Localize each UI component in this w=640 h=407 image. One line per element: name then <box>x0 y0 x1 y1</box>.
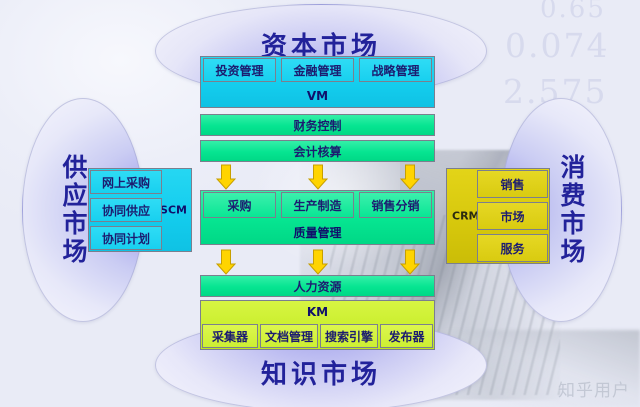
scm-item-online-procurement-label: 网上采购 <box>102 174 150 191</box>
km-label: KM <box>201 305 434 319</box>
crm-item-sales-label: 销售 <box>500 176 524 193</box>
erp-footer-quality-label: 质量管理 <box>293 224 341 241</box>
erp-item-sales-distribution-label: 销售分销 <box>371 197 419 214</box>
vm-item-strategy-label: 战略管理 <box>371 62 419 79</box>
erp-footer-quality[interactable]: 质量管理 <box>200 221 435 244</box>
scm-item-collaborative-planning-label: 协同计划 <box>102 230 150 247</box>
vm-item-investment[interactable]: 投资管理 <box>203 58 276 82</box>
knowledge-market-label: 知识市场 <box>261 354 381 391</box>
crm-label: CRM <box>452 210 480 223</box>
km-item-publisher-label: 发布器 <box>388 328 424 345</box>
crm-item-marketing[interactable]: 市场 <box>477 202 548 230</box>
km-item-document-management-label: 文档管理 <box>265 328 313 345</box>
km-item-publisher[interactable]: 发布器 <box>380 324 433 348</box>
finance-row-control-label: 财务控制 <box>293 117 341 134</box>
finance-row-accounting[interactable]: 会计核算 <box>200 140 435 162</box>
double-arrow-icon <box>307 164 329 190</box>
erp-item-sales-distribution[interactable]: 销售分销 <box>359 192 432 218</box>
double-arrow-icon <box>399 249 421 275</box>
consumer-market-label: 消费市场 <box>553 154 589 266</box>
hr-module-label: 人力资源 <box>293 278 341 295</box>
hr-module[interactable]: 人力资源 <box>200 275 435 297</box>
vm-item-finance[interactable]: 金融管理 <box>281 58 354 82</box>
erp-item-manufacturing[interactable]: 生产制造 <box>281 192 354 218</box>
scm-label: SCM <box>160 204 187 217</box>
erp-item-manufacturing-label: 生产制造 <box>293 197 341 214</box>
crm-item-sales[interactable]: 销售 <box>477 170 548 198</box>
watermark-number-2: 0.074 <box>505 26 609 65</box>
km-item-search-engine[interactable]: 搜索引擎 <box>320 324 378 348</box>
erp-item-procurement[interactable]: 采购 <box>203 192 276 218</box>
watermark-brand: 知乎用户 <box>558 376 630 401</box>
watermark-number-1: 0.65 <box>540 0 606 24</box>
scm-item-collaborative-supply[interactable]: 协同供应 <box>90 198 162 222</box>
km-item-collector[interactable]: 采集器 <box>202 324 258 348</box>
scm-item-online-procurement[interactable]: 网上采购 <box>90 170 162 194</box>
km-item-collector-label: 采集器 <box>212 328 248 345</box>
crm-item-service[interactable]: 服务 <box>477 234 548 262</box>
scm-item-collaborative-supply-label: 协同供应 <box>102 202 150 219</box>
vm-label: VM <box>201 89 434 103</box>
double-arrow-icon <box>399 164 421 190</box>
erp-item-procurement-label: 采购 <box>227 197 251 214</box>
vm-item-finance-label: 金融管理 <box>293 62 341 79</box>
finance-row-accounting-label: 会计核算 <box>293 143 341 160</box>
supply-market-label: 供应市场 <box>55 154 91 266</box>
km-item-search-engine-label: 搜索引擎 <box>325 328 373 345</box>
double-arrow-icon <box>215 249 237 275</box>
finance-row-control[interactable]: 财务控制 <box>200 114 435 136</box>
double-arrow-icon <box>307 249 329 275</box>
vm-item-investment-label: 投资管理 <box>215 62 263 79</box>
double-arrow-icon <box>215 164 237 190</box>
crm-item-marketing-label: 市场 <box>500 208 524 225</box>
km-item-document-management[interactable]: 文档管理 <box>260 324 318 348</box>
diagram-canvas: 0.65 0.074 2.575 知乎用户 资本市场 知识市场 供应市场 消费市… <box>0 0 640 407</box>
scm-item-collaborative-planning[interactable]: 协同计划 <box>90 226 162 250</box>
vm-item-strategy[interactable]: 战略管理 <box>359 58 432 82</box>
crm-item-service-label: 服务 <box>500 240 524 257</box>
